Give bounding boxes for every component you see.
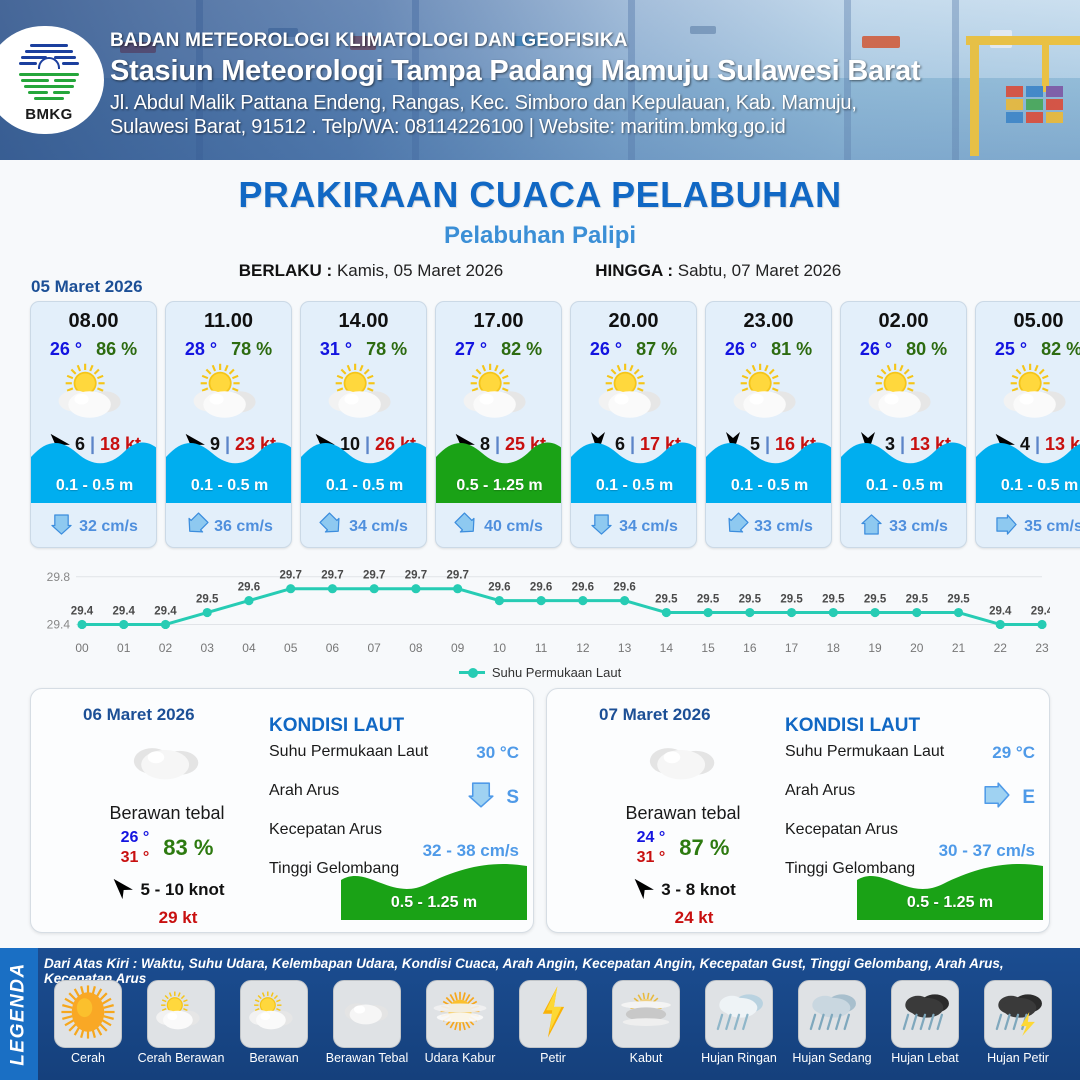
moderate-rain-icon bbox=[801, 982, 863, 1047]
legend-item-label: Hujan Ringan bbox=[701, 1051, 777, 1065]
panel-temp-min: 24 ° bbox=[637, 828, 666, 848]
legend-item-label: Cerah Berawan bbox=[138, 1051, 225, 1065]
chart-legend-marker bbox=[459, 671, 485, 674]
card-temperature: 25 ° bbox=[995, 339, 1027, 360]
lightning-icon bbox=[536, 982, 570, 1047]
card-humidity: 80 % bbox=[906, 339, 947, 360]
svg-text:21: 21 bbox=[952, 641, 966, 655]
wave-height-label: 0.1 - 0.5 m bbox=[571, 469, 697, 503]
weather-condition-icon bbox=[31, 362, 156, 424]
sea-row: Arah Arus E bbox=[785, 782, 1043, 821]
valid-until: HINGGA : Sabtu, 07 Maret 2026 bbox=[595, 261, 841, 281]
sea-row: Kecepatan Arus 30 - 37 cm/s bbox=[785, 821, 1043, 860]
card-temp-hum: 26 ° 86 % bbox=[31, 339, 156, 360]
weather-condition-icon bbox=[61, 733, 273, 789]
card-temp-hum: 28 ° 78 % bbox=[166, 339, 291, 360]
legend-icon-box bbox=[147, 980, 215, 1048]
haze-icon bbox=[429, 982, 491, 1047]
card-temperature: 26 ° bbox=[725, 339, 757, 360]
svg-text:16: 16 bbox=[743, 641, 757, 655]
svg-text:08: 08 bbox=[409, 641, 423, 655]
sea-row-key: Arah Arus bbox=[269, 782, 339, 799]
legend-icon-box bbox=[984, 980, 1052, 1048]
svg-text:11: 11 bbox=[535, 641, 548, 655]
svg-text:14: 14 bbox=[660, 641, 674, 655]
card-humidity: 82 % bbox=[501, 339, 542, 360]
hourly-card[interactable]: 05.00 25 ° 82 % 4 | 13 kt 0.1 - 0.5 m 3 bbox=[975, 301, 1080, 548]
card-temp-hum: 31 ° 78 % bbox=[301, 339, 426, 360]
legend-side-label: LEGENDA bbox=[8, 962, 30, 1065]
legend-section: LEGENDA Dari Atas Kiri : Waktu, Suhu Uda… bbox=[0, 948, 1080, 1080]
svg-text:29.5: 29.5 bbox=[655, 594, 678, 606]
wave-height-label: 0.1 - 0.5 m bbox=[976, 469, 1080, 503]
legend-icon-box bbox=[333, 980, 401, 1048]
panel-wave-label: 0.5 - 1.25 m bbox=[341, 894, 527, 912]
legend-side-bar: LEGENDA bbox=[0, 948, 38, 1080]
panel-left-column: Berawan tebal 26 ° 31 ° 83 % 5 - 10 knot… bbox=[61, 733, 273, 928]
svg-text:29.5: 29.5 bbox=[739, 594, 762, 606]
svg-text:18: 18 bbox=[827, 641, 841, 655]
card-time: 23.00 bbox=[706, 310, 831, 333]
weather-condition-icon bbox=[571, 362, 696, 424]
hourly-card[interactable]: 02.00 26 ° 80 % 3 | 13 kt 0.1 - 0.5 m 3 bbox=[840, 301, 967, 548]
current-direction-group: S bbox=[468, 780, 519, 815]
legend-item-label: Hujan Lebat bbox=[891, 1051, 958, 1065]
legend-item: Cerah bbox=[44, 980, 132, 1065]
port-name: Pelabuhan Palipi bbox=[0, 222, 1080, 250]
svg-text:29.6: 29.6 bbox=[488, 582, 510, 594]
weather-condition-icon bbox=[577, 733, 789, 789]
legend-icon-box bbox=[519, 980, 587, 1048]
card-temperature: 26 ° bbox=[590, 339, 622, 360]
card-current-row: 33 cm/s bbox=[706, 513, 832, 541]
valid-until-label: HINGGA : bbox=[595, 261, 673, 280]
panel-temps: 24 ° 31 ° bbox=[637, 828, 666, 867]
svg-text:05: 05 bbox=[284, 641, 298, 655]
svg-text:29.7: 29.7 bbox=[363, 570, 385, 582]
card-humidity: 78 % bbox=[366, 339, 407, 360]
hourly-date-label: 05 Maret 2026 bbox=[31, 277, 143, 297]
svg-text:29.6: 29.6 bbox=[530, 582, 552, 594]
legend-item: Hujan Lebat bbox=[881, 980, 969, 1065]
legend-item: Petir bbox=[509, 980, 597, 1065]
legend-item-label: Udara Kabur bbox=[425, 1051, 496, 1065]
legend-item: Hujan Ringan bbox=[695, 980, 783, 1065]
svg-text:29.7: 29.7 bbox=[405, 570, 427, 582]
sea-row-key: Suhu Permukaan Laut bbox=[785, 743, 944, 760]
panel-wind-row: 3 - 8 knot bbox=[577, 875, 789, 904]
svg-text:12: 12 bbox=[576, 641, 590, 655]
page-header: BMKG BADAN METEOROLOGI KLIMATOLOGI DAN G… bbox=[0, 0, 1080, 160]
sea-row: Suhu Permukaan Laut 29 °C bbox=[785, 743, 1043, 782]
legend-item-label: Hujan Sedang bbox=[792, 1051, 871, 1065]
current-direction-arrow-icon bbox=[321, 513, 342, 541]
svg-text:29.6: 29.6 bbox=[238, 582, 260, 594]
hourly-card[interactable]: 23.00 26 ° 81 % 5 | 16 kt 0.1 - 0.5 m 3 bbox=[705, 301, 832, 548]
hourly-card[interactable]: 14.00 31 ° 78 % 10 | 26 kt 0.1 - 0.5 m bbox=[300, 301, 427, 548]
legend-icon-box bbox=[54, 980, 122, 1048]
svg-text:29.5: 29.5 bbox=[697, 594, 720, 606]
svg-text:09: 09 bbox=[451, 641, 465, 655]
legend-item-label: Berawan Tebal bbox=[326, 1051, 408, 1065]
svg-text:22: 22 bbox=[994, 641, 1008, 655]
panel-temps: 26 ° 31 ° bbox=[121, 828, 150, 867]
card-temperature: 27 ° bbox=[455, 339, 487, 360]
current-direction-arrow-icon bbox=[726, 513, 747, 541]
svg-text:29.6: 29.6 bbox=[572, 582, 594, 594]
current-direction-arrow-icon bbox=[984, 780, 1010, 815]
current-direction-group: E bbox=[984, 780, 1035, 815]
station-name: Stasiun Meteorologi Tampa Padang Mamuju … bbox=[110, 55, 921, 88]
legend-item: Hujan Petir bbox=[974, 980, 1062, 1065]
wave-height-label: 0.5 - 1.25 m bbox=[436, 469, 562, 503]
card-current-row: 33 cm/s bbox=[841, 513, 967, 541]
svg-text:00: 00 bbox=[75, 641, 89, 655]
card-current-row: 36 cm/s bbox=[166, 513, 292, 541]
card-temp-hum: 26 ° 81 % bbox=[706, 339, 831, 360]
card-current-row: 34 cm/s bbox=[301, 513, 427, 541]
svg-text:10: 10 bbox=[493, 641, 507, 655]
cloud-icon bbox=[336, 982, 398, 1047]
legend-icon-box bbox=[798, 980, 866, 1048]
svg-text:29.7: 29.7 bbox=[446, 570, 468, 582]
legend-item-label: Berawan bbox=[249, 1051, 298, 1065]
valid-from-value: Kamis, 05 Maret 2026 bbox=[337, 261, 503, 280]
light-rain-icon bbox=[708, 982, 770, 1047]
svg-text:29.5: 29.5 bbox=[822, 594, 845, 606]
daily-forecast-panel[interactable]: 07 Maret 2026 Berawan tebal 24 ° 31 ° 87… bbox=[546, 688, 1050, 933]
bmkg-logo-text: BMKG bbox=[25, 106, 72, 123]
svg-text:01: 01 bbox=[117, 641, 131, 655]
sun-cloud-more-icon bbox=[243, 982, 305, 1047]
current-direction-arrow-icon bbox=[456, 513, 477, 541]
card-temperature: 26 ° bbox=[860, 339, 892, 360]
svg-text:03: 03 bbox=[201, 641, 215, 655]
panel-temp-block: 24 ° 31 ° 87 % bbox=[577, 828, 789, 867]
svg-text:06: 06 bbox=[326, 641, 340, 655]
wind-direction-arrow-icon bbox=[109, 875, 133, 904]
sea-conditions-title: KONDISI LAUT bbox=[785, 715, 1043, 737]
svg-text:29.5: 29.5 bbox=[906, 594, 929, 606]
current-direction-arrow-icon bbox=[468, 780, 494, 815]
sea-row-value: 30 °C bbox=[476, 743, 519, 763]
svg-text:19: 19 bbox=[868, 641, 882, 655]
panel-temp-max: 31 ° bbox=[637, 848, 666, 868]
header-text-block: BADAN METEOROLOGI KLIMATOLOGI DAN GEOFIS… bbox=[110, 30, 921, 139]
address-line-1: Jl. Abdul Malik Pattana Endeng, Rangas, … bbox=[110, 92, 921, 116]
current-speed: 33 cm/s bbox=[754, 518, 813, 536]
card-humidity: 81 % bbox=[771, 339, 812, 360]
card-time: 11.00 bbox=[166, 310, 291, 333]
current-speed: 33 cm/s bbox=[889, 518, 948, 536]
valid-from: BERLAKU : Kamis, 05 Maret 2026 bbox=[239, 261, 504, 281]
panel-temp-max: 31 ° bbox=[121, 848, 150, 868]
panel-wave-label: 0.5 - 1.25 m bbox=[857, 894, 1043, 912]
panel-date: 07 Maret 2026 bbox=[599, 705, 711, 725]
agency-name: BADAN METEOROLOGI KLIMATOLOGI DAN GEOFIS… bbox=[110, 30, 921, 52]
svg-text:29.5: 29.5 bbox=[196, 594, 219, 606]
sun-icon bbox=[57, 982, 119, 1047]
sea-row-key: Suhu Permukaan Laut bbox=[269, 743, 428, 760]
current-speed: 36 cm/s bbox=[214, 518, 273, 536]
card-temperature: 28 ° bbox=[185, 339, 217, 360]
hourly-card[interactable]: 17.00 27 ° 82 % 8 | 25 kt 0.5 - 1.25 m bbox=[435, 301, 562, 548]
panel-wind-row: 5 - 10 knot bbox=[61, 875, 273, 904]
card-temp-hum: 26 ° 87 % bbox=[571, 339, 696, 360]
card-current-row: 40 cm/s bbox=[436, 513, 562, 541]
wind-direction-arrow-icon bbox=[630, 875, 654, 904]
panel-temp-block: 26 ° 31 ° 83 % bbox=[61, 828, 273, 867]
card-temp-hum: 26 ° 80 % bbox=[841, 339, 966, 360]
legend-items-row: Cerah Cerah Berawan Berawan bbox=[44, 980, 1074, 1065]
sea-row-value: S bbox=[506, 787, 519, 809]
legend-item-label: Cerah bbox=[71, 1051, 105, 1065]
weather-condition-icon bbox=[436, 362, 561, 424]
legend-item: Berawan bbox=[230, 980, 318, 1065]
hourly-card[interactable]: 08.00 26 ° 86 % 6 | 18 kt 0.1 - 0.5 m 3 bbox=[30, 301, 157, 548]
weather-condition-icon bbox=[841, 362, 966, 424]
current-direction-arrow-icon bbox=[591, 513, 612, 541]
svg-text:29.7: 29.7 bbox=[280, 570, 302, 582]
panel-gust: 24 kt bbox=[599, 908, 789, 928]
hourly-forecast-row: 08.00 26 ° 86 % 6 | 18 kt 0.1 - 0.5 m 3 bbox=[30, 301, 1080, 548]
current-speed: 34 cm/s bbox=[349, 518, 408, 536]
sea-row: Suhu Permukaan Laut 30 °C bbox=[269, 743, 527, 782]
card-temp-hum: 27 ° 82 % bbox=[436, 339, 561, 360]
svg-text:29.6: 29.6 bbox=[613, 582, 635, 594]
svg-text:13: 13 bbox=[618, 641, 632, 655]
card-temperature: 26 ° bbox=[50, 339, 82, 360]
current-direction-arrow-icon bbox=[186, 513, 207, 541]
daily-forecast-panel[interactable]: 06 Maret 2026 Berawan tebal 26 ° 31 ° 83… bbox=[30, 688, 534, 933]
panel-temp-min: 26 ° bbox=[121, 828, 150, 848]
hourly-card[interactable]: 20.00 26 ° 87 % 6 | 17 kt 0.1 - 0.5 m 3 bbox=[570, 301, 697, 548]
valid-until-value: Sabtu, 07 Maret 2026 bbox=[678, 261, 842, 280]
current-speed: 40 cm/s bbox=[484, 518, 543, 536]
legend-item-label: Kabut bbox=[630, 1051, 663, 1065]
card-time: 02.00 bbox=[841, 310, 966, 333]
panel-date: 06 Maret 2026 bbox=[83, 705, 195, 725]
svg-text:29.8: 29.8 bbox=[47, 570, 71, 584]
panel-gust: 29 kt bbox=[83, 908, 273, 928]
legend-item: Berawan Tebal bbox=[323, 980, 411, 1065]
panel-humidity: 87 % bbox=[679, 835, 729, 861]
card-time: 05.00 bbox=[976, 310, 1080, 333]
legend-item-label: Petir bbox=[540, 1051, 566, 1065]
svg-text:29.4: 29.4 bbox=[113, 605, 136, 617]
svg-text:07: 07 bbox=[367, 641, 381, 655]
legend-item: Kabut bbox=[602, 980, 690, 1065]
panel-humidity: 83 % bbox=[163, 835, 213, 861]
thunderstorm-icon bbox=[987, 982, 1049, 1047]
card-humidity: 86 % bbox=[96, 339, 137, 360]
wave-height-label: 0.1 - 0.5 m bbox=[706, 469, 832, 503]
sea-conditions-title: KONDISI LAUT bbox=[269, 715, 527, 737]
card-time: 20.00 bbox=[571, 310, 696, 333]
svg-text:02: 02 bbox=[159, 641, 173, 655]
card-humidity: 82 % bbox=[1041, 339, 1080, 360]
current-speed: 34 cm/s bbox=[619, 518, 678, 536]
sea-row-value: E bbox=[1022, 787, 1035, 809]
sea-row: Kecepatan Arus 32 - 38 cm/s bbox=[269, 821, 527, 860]
title-section: PRAKIRAAN CUACA PELABUHAN Pelabuhan Pali… bbox=[0, 160, 1080, 281]
address-line-2: Sulawesi Barat, 91512 . Telp/WA: 0811422… bbox=[110, 116, 921, 140]
svg-text:04: 04 bbox=[242, 641, 256, 655]
sea-row-key: Kecepatan Arus bbox=[269, 821, 382, 838]
current-speed: 35 cm/s bbox=[1024, 518, 1080, 536]
svg-text:29.5: 29.5 bbox=[780, 594, 803, 606]
chart-legend-label: Suhu Permukaan Laut bbox=[492, 665, 621, 680]
legend-item: Cerah Berawan bbox=[137, 980, 225, 1065]
panel-left-column: Berawan tebal 24 ° 31 ° 87 % 3 - 8 knot … bbox=[577, 733, 789, 928]
daily-panels-row: 06 Maret 2026 Berawan tebal 26 ° 31 ° 83… bbox=[30, 688, 1050, 933]
card-time: 17.00 bbox=[436, 310, 561, 333]
card-humidity: 87 % bbox=[636, 339, 677, 360]
legend-icon-box bbox=[891, 980, 959, 1048]
sun-cloud-icon bbox=[150, 982, 212, 1047]
svg-text:29.5: 29.5 bbox=[947, 594, 970, 606]
legend-icon-box bbox=[705, 980, 773, 1048]
svg-text:23: 23 bbox=[1035, 641, 1049, 655]
current-speed: 32 cm/s bbox=[79, 518, 138, 536]
sea-row-key: Kecepatan Arus bbox=[785, 821, 898, 838]
bmkg-logo-mark bbox=[16, 38, 82, 104]
current-direction-arrow-icon bbox=[51, 513, 72, 541]
current-direction-arrow-icon bbox=[861, 513, 882, 541]
sea-row-value: 29 °C bbox=[992, 743, 1035, 763]
panel-condition: Berawan tebal bbox=[577, 803, 789, 824]
valid-from-label: BERLAKU : bbox=[239, 261, 333, 280]
weather-condition-icon bbox=[166, 362, 291, 424]
sea-row-key: Arah Arus bbox=[785, 782, 855, 799]
svg-text:29.4: 29.4 bbox=[47, 617, 71, 631]
fog-icon bbox=[615, 982, 677, 1047]
svg-text:17: 17 bbox=[785, 641, 799, 655]
weather-condition-icon bbox=[706, 362, 831, 424]
panel-condition: Berawan tebal bbox=[61, 803, 273, 824]
legend-item-label: Hujan Petir bbox=[987, 1051, 1049, 1065]
card-time: 08.00 bbox=[31, 310, 156, 333]
card-time: 14.00 bbox=[301, 310, 426, 333]
sst-chart: 29.829.429.40029.40129.40229.50329.60429… bbox=[30, 558, 1050, 683]
sst-chart-svg: 29.829.429.40029.40129.40229.50329.60429… bbox=[30, 558, 1050, 663]
card-humidity: 78 % bbox=[231, 339, 272, 360]
svg-text:29.5: 29.5 bbox=[864, 594, 887, 606]
card-current-row: 32 cm/s bbox=[31, 513, 157, 541]
weather-condition-icon bbox=[301, 362, 426, 424]
wave-height-label: 0.1 - 0.5 m bbox=[31, 469, 157, 503]
legend-icon-box bbox=[426, 980, 494, 1048]
legend-icon-box bbox=[240, 980, 308, 1048]
legend-icon-box bbox=[612, 980, 680, 1048]
svg-text:29.4: 29.4 bbox=[71, 605, 94, 617]
svg-text:29.4: 29.4 bbox=[154, 605, 177, 617]
heavy-rain-icon bbox=[894, 982, 956, 1047]
current-direction-arrow-icon bbox=[996, 513, 1017, 541]
weather-condition-icon bbox=[976, 362, 1080, 424]
svg-text:29.4: 29.4 bbox=[989, 605, 1012, 617]
hourly-card[interactable]: 11.00 28 ° 78 % 9 | 23 kt 0.1 - 0.5 m 3 bbox=[165, 301, 292, 548]
panel-wind-range: 5 - 10 knot bbox=[140, 880, 224, 900]
svg-text:29.4: 29.4 bbox=[1031, 605, 1050, 617]
card-temperature: 31 ° bbox=[320, 339, 352, 360]
svg-text:20: 20 bbox=[910, 641, 924, 655]
validity-row: BERLAKU : Kamis, 05 Maret 2026 HINGGA : … bbox=[0, 261, 1080, 281]
sea-row: Arah Arus S bbox=[269, 782, 527, 821]
page-title: PRAKIRAAN CUACA PELABUHAN bbox=[0, 174, 1080, 216]
card-current-row: 34 cm/s bbox=[571, 513, 697, 541]
wave-height-label: 0.1 - 0.5 m bbox=[166, 469, 292, 503]
panel-wind-range: 3 - 8 knot bbox=[661, 880, 736, 900]
legend-item: Udara Kabur bbox=[416, 980, 504, 1065]
wave-height-label: 0.1 - 0.5 m bbox=[301, 469, 427, 503]
svg-text:15: 15 bbox=[701, 641, 715, 655]
card-current-row: 35 cm/s bbox=[976, 513, 1080, 541]
card-temp-hum: 25 ° 82 % bbox=[976, 339, 1080, 360]
legend-item: Hujan Sedang bbox=[788, 980, 876, 1065]
svg-text:29.7: 29.7 bbox=[321, 570, 343, 582]
wave-height-label: 0.1 - 0.5 m bbox=[841, 469, 967, 503]
chart-legend: Suhu Permukaan Laut bbox=[30, 665, 1050, 680]
